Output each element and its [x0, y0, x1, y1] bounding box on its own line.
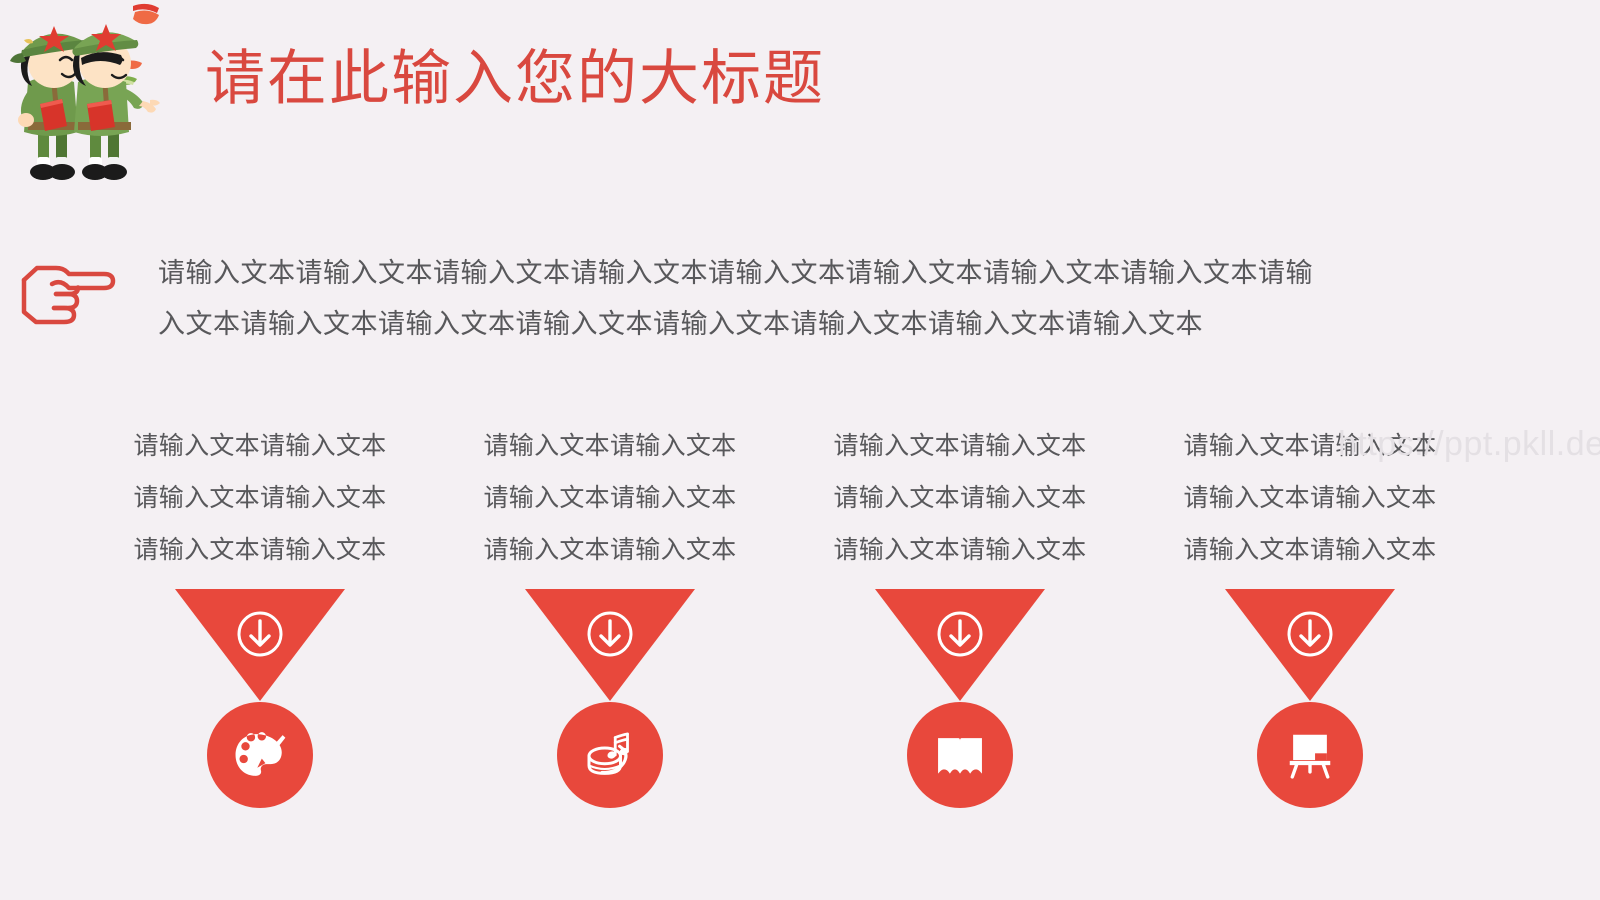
column-3-line-1: 请输入文本请输入文本: [785, 420, 1135, 472]
circled-arrow-down-icon: [1285, 609, 1335, 659]
body-paragraph: 请输入文本请输入文本请输入文本请输入文本请输入文本请输入文本请输入文本请输入文本…: [158, 248, 1408, 350]
column-2-triangle: [525, 589, 695, 701]
two-soldiers-illustration: [2, 0, 202, 200]
column-2-line-1: 请输入文本请输入文本: [435, 420, 785, 472]
column-3-text: 请输入文本请输入文本 请输入文本请输入文本 请输入文本请输入文本: [785, 420, 1135, 576]
open-book-icon-badge[interactable]: [907, 702, 1013, 808]
column-1: 请输入文本请输入文本 请输入文本请输入文本 请输入文本请输入文本: [85, 420, 435, 880]
pointing-hand-icon: [12, 250, 122, 330]
column-3-line-3: 请输入文本请输入文本: [785, 524, 1135, 576]
columns-container: 请输入文本请输入文本 请输入文本请输入文本 请输入文本请输入文本: [0, 420, 1600, 880]
easel-board-icon-badge[interactable]: [1257, 702, 1363, 808]
music-drum-icon-badge[interactable]: [557, 702, 663, 808]
column-4-line-2: 请输入文本请输入文本: [1135, 472, 1485, 524]
column-4-text: 请输入文本请输入文本 请输入文本请输入文本 请输入文本请输入文本: [1135, 420, 1485, 576]
palette-icon: [231, 726, 289, 784]
column-1-triangle: [175, 589, 345, 701]
open-book-icon: [933, 728, 987, 782]
circled-arrow-down-icon: [235, 609, 285, 659]
column-3-triangle: [875, 589, 1045, 701]
body-line-1: 请输入文本请输入文本请输入文本请输入文本请输入文本请输入文本请输入文本请输入文本…: [158, 248, 1408, 299]
column-4-line-3: 请输入文本请输入文本: [1135, 524, 1485, 576]
column-1-line-1: 请输入文本请输入文本: [85, 420, 435, 472]
page-title: 请在此输入您的大标题: [205, 42, 825, 116]
column-3: 请输入文本请输入文本 请输入文本请输入文本 请输入文本请输入文本: [785, 420, 1135, 880]
slide-canvas: 请在此输入您的大标题 请输入文本请输入文本请输入文本请输入文本请输入文本请输入文…: [0, 0, 1600, 900]
music-drum-icon: [582, 727, 638, 783]
palette-icon-badge[interactable]: [207, 702, 313, 808]
column-2-line-2: 请输入文本请输入文本: [435, 472, 785, 524]
body-line-2: 入文本请输入文本请输入文本请输入文本请输入文本请输入文本请输入文本请输入文本: [158, 299, 1408, 350]
column-4-triangle: [1225, 589, 1395, 701]
circled-arrow-down-icon: [585, 609, 635, 659]
easel-board-icon: [1283, 728, 1337, 782]
circled-arrow-down-icon: [935, 609, 985, 659]
column-2: 请输入文本请输入文本 请输入文本请输入文本 请输入文本请输入文本: [435, 420, 785, 880]
column-4: 请输入文本请输入文本 请输入文本请输入文本 请输入文本请输入文本: [1135, 420, 1485, 880]
column-1-text: 请输入文本请输入文本 请输入文本请输入文本 请输入文本请输入文本: [85, 420, 435, 576]
column-1-line-3: 请输入文本请输入文本: [85, 524, 435, 576]
column-2-text: 请输入文本请输入文本 请输入文本请输入文本 请输入文本请输入文本: [435, 420, 785, 576]
column-1-line-2: 请输入文本请输入文本: [85, 472, 435, 524]
column-2-line-3: 请输入文本请输入文本: [435, 524, 785, 576]
column-4-line-1: 请输入文本请输入文本: [1135, 420, 1485, 472]
column-3-line-2: 请输入文本请输入文本: [785, 472, 1135, 524]
